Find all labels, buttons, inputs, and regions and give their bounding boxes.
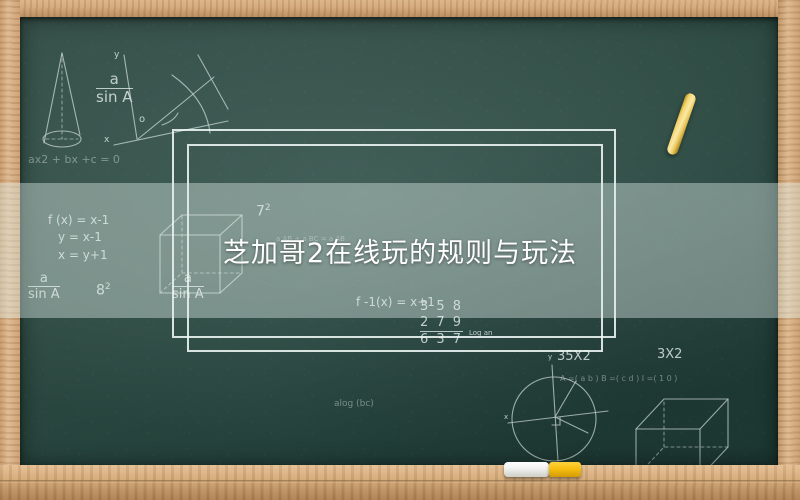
chalk-white-icon [504,462,549,477]
log-expression-text: alog (bc) [334,399,374,409]
axis-y-label-topleft: y [114,50,119,60]
blackboard-banner: a sin A y x o ax2 + bx +c = 0 f (x) = x-… [0,0,800,500]
axis-x-label-topleft: x [104,135,109,145]
label-3x2: 3X2 [657,347,682,362]
page-title: 芝加哥2在线玩的规则与玩法 [223,231,577,270]
chalk-tray-edge [0,480,800,483]
wood-frame-top [0,0,800,17]
circle-sector-drawing-icon [502,357,617,465]
circle-axis-x-label: x [504,413,508,421]
chalk-yellow-icon [549,462,581,477]
cube-drawing-right-icon [628,387,738,465]
circle-axis-y-label: y [548,353,552,361]
title-banner-overlay: 芝加哥2在线玩的规则与玩法 [0,183,800,318]
quadratic-equation-text: ax2 + bx +c = 0 [28,153,120,166]
angle-label-topleft: o [139,114,145,125]
chalk-stick-yellow-icon [666,92,697,156]
